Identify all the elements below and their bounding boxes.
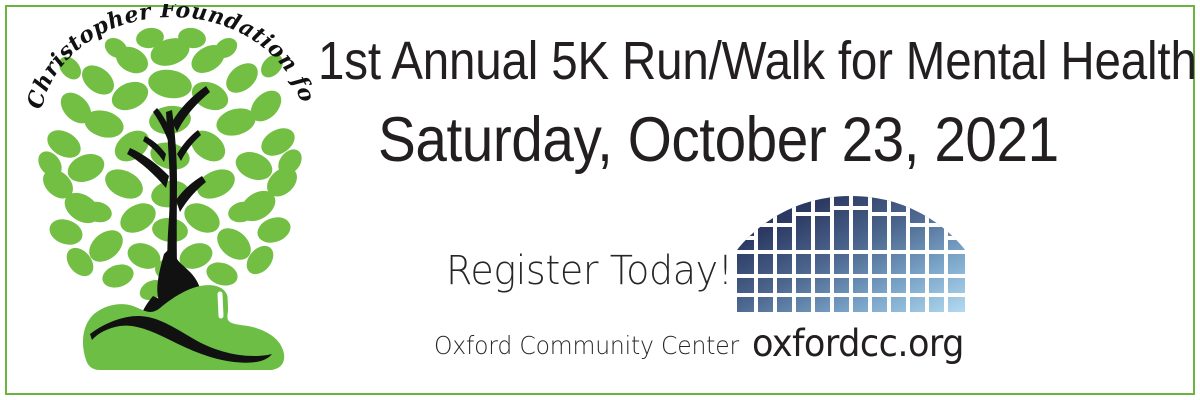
running-shoe-icon [83, 285, 284, 374]
page-title: 1st Annual 5K Run/Walk for Mental Health [318, 30, 1022, 92]
website-url[interactable]: oxfordcc.org [752, 320, 964, 368]
event-banner: The Christopher Foundation for life 1st … [0, 0, 1200, 400]
organization-name: Oxford Community Center [434, 328, 739, 364]
register-today-text[interactable]: Register Today! [446, 243, 733, 299]
event-date: Saturday, October 23, 2021 [378, 104, 1098, 176]
oxford-community-center-dome-icon [735, 194, 967, 314]
christopher-foundation-logo: The Christopher Foundation for life [20, 4, 320, 396]
